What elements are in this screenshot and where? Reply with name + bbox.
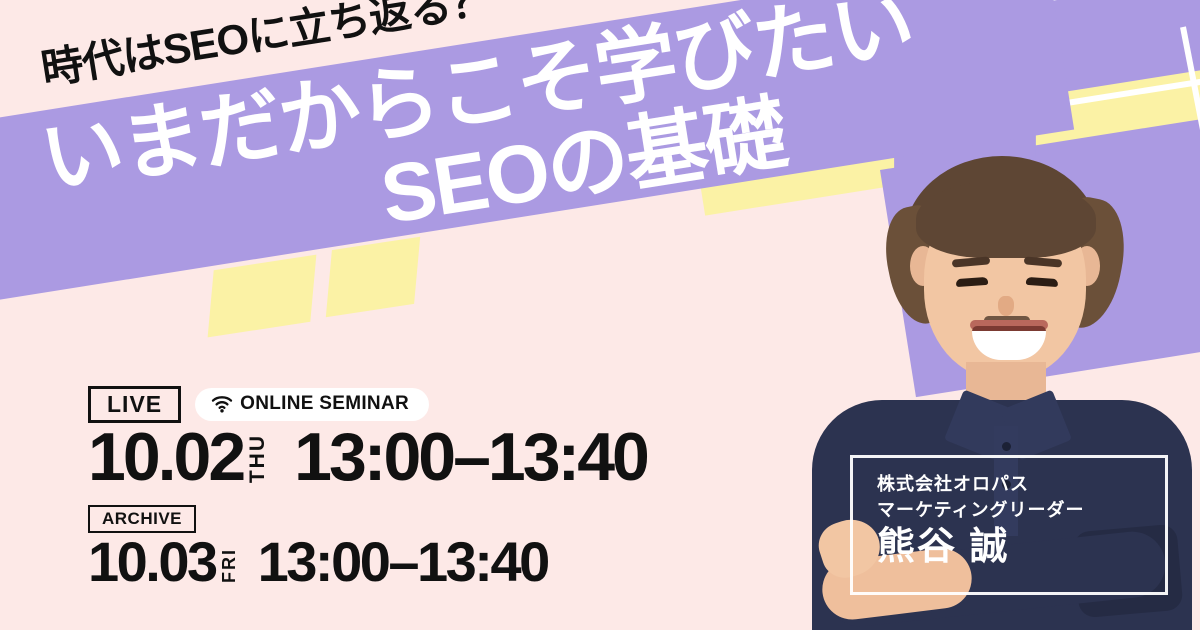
decoration-yellow-block-2: [326, 237, 420, 318]
archive-tag: ARCHIVE: [88, 505, 196, 534]
speaker-name: 熊谷 誠: [877, 527, 1165, 569]
live-tag: LIVE: [88, 386, 181, 423]
photo-nose: [998, 296, 1014, 316]
archive-date-row: 10.03 FRI 13:00–13:40: [88, 535, 647, 589]
wifi-icon: [211, 395, 233, 413]
online-seminar-label: ONLINE SEMINAR: [240, 393, 409, 415]
archive-badge-row: ARCHIVE: [88, 505, 647, 534]
schedule-info: LIVE ONLINE SEMINAR 10.02 THU: [88, 386, 647, 589]
speaker-info-box: 株式会社オロパス マーケティングリーダー 熊谷 誠: [850, 455, 1168, 595]
webinar-banner: 時代はSEOに立ち返る？ いまだからこそ学びたい SEOの基礎 LIVE: [0, 0, 1200, 630]
decoration-white-line-top: [880, 0, 1187, 28]
archive-date: 10.03: [88, 535, 216, 589]
speaker-role: マーケティングリーダー: [877, 498, 1165, 524]
live-day-of-week: THU: [247, 434, 268, 483]
online-seminar-pill: ONLINE SEMINAR: [195, 388, 429, 421]
decoration-white-line-mid: [890, 75, 1200, 134]
live-date: 10.02: [88, 425, 243, 490]
photo-button-top: [1002, 442, 1011, 451]
photo-fringe: [916, 180, 1096, 258]
live-date-row: 10.02 THU 13:00–13:40: [88, 425, 647, 490]
session-live: LIVE ONLINE SEMINAR 10.02 THU: [88, 386, 647, 491]
session-archive: ARCHIVE 10.03 FRI 13:00–13:40: [88, 505, 647, 589]
live-time: 13:00–13:40: [294, 425, 647, 490]
live-badge-row: LIVE ONLINE SEMINAR: [88, 386, 647, 423]
decoration-white-line-right: [1180, 26, 1200, 165]
speaker-company: 株式会社オロパス: [877, 472, 1165, 498]
archive-time: 13:00–13:40: [258, 535, 548, 589]
decoration-yellow-block-1: [208, 255, 317, 338]
archive-day-of-week: FRI: [220, 548, 238, 583]
